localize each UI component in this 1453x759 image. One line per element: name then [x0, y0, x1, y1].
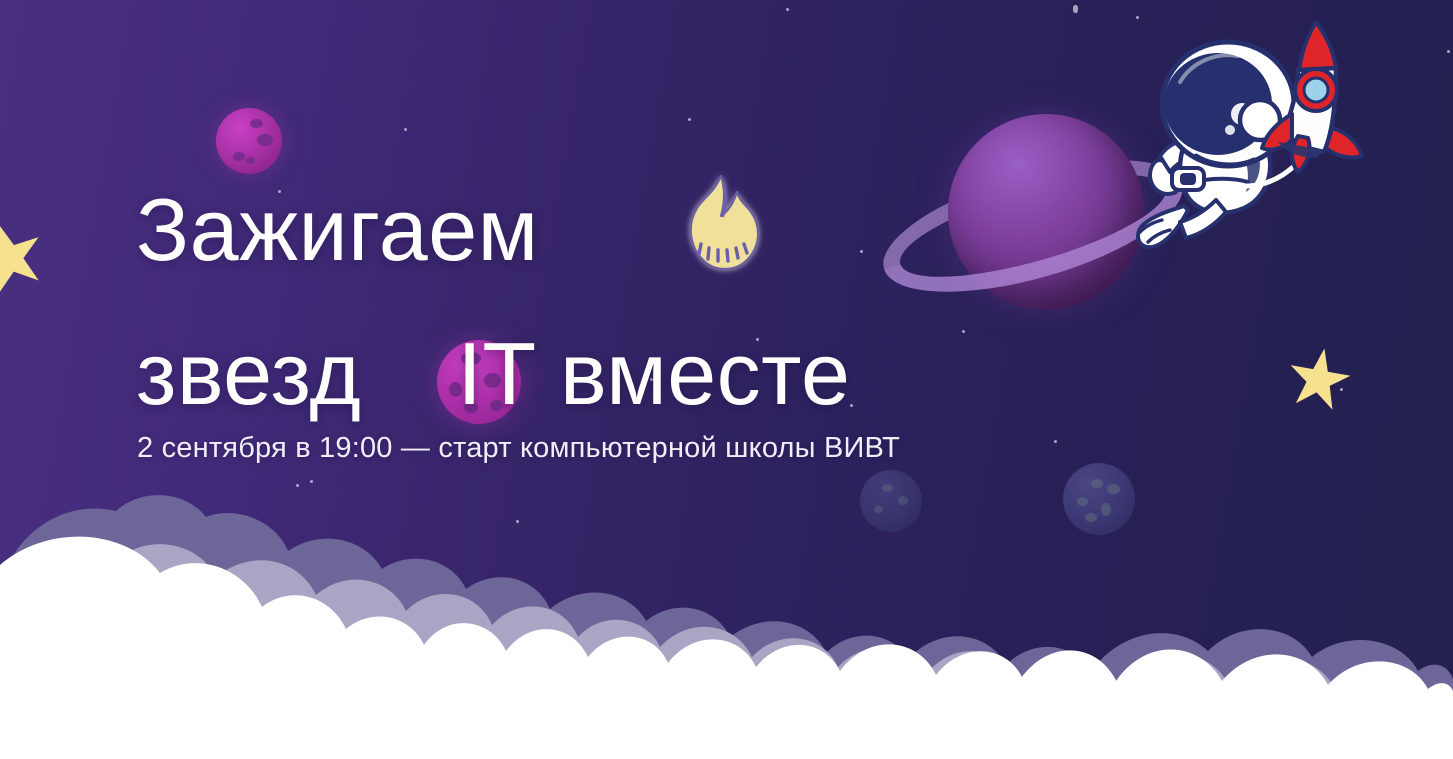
cloud-layer-front: [0, 529, 1453, 759]
star-icon: [1283, 343, 1355, 415]
flame-icon: [673, 168, 769, 280]
astronaut-with-rocket-illustration: [1120, 10, 1400, 280]
page-title-line1: Зажигаем: [136, 186, 539, 274]
star-icon: [0, 213, 53, 301]
headline-word-it-vmeste: IT вместе: [457, 324, 850, 423]
subtitle: 2 сентября в 19:00 — старт компьютерной …: [137, 432, 900, 465]
headline-word-zvezd: звезд: [136, 324, 361, 423]
planet-icon: [216, 108, 282, 174]
space-banner: Зажигаем звездIT вместе 2 сентября в 19:…: [0, 0, 1453, 759]
page-title-line2: звездIT вместе: [136, 330, 850, 418]
